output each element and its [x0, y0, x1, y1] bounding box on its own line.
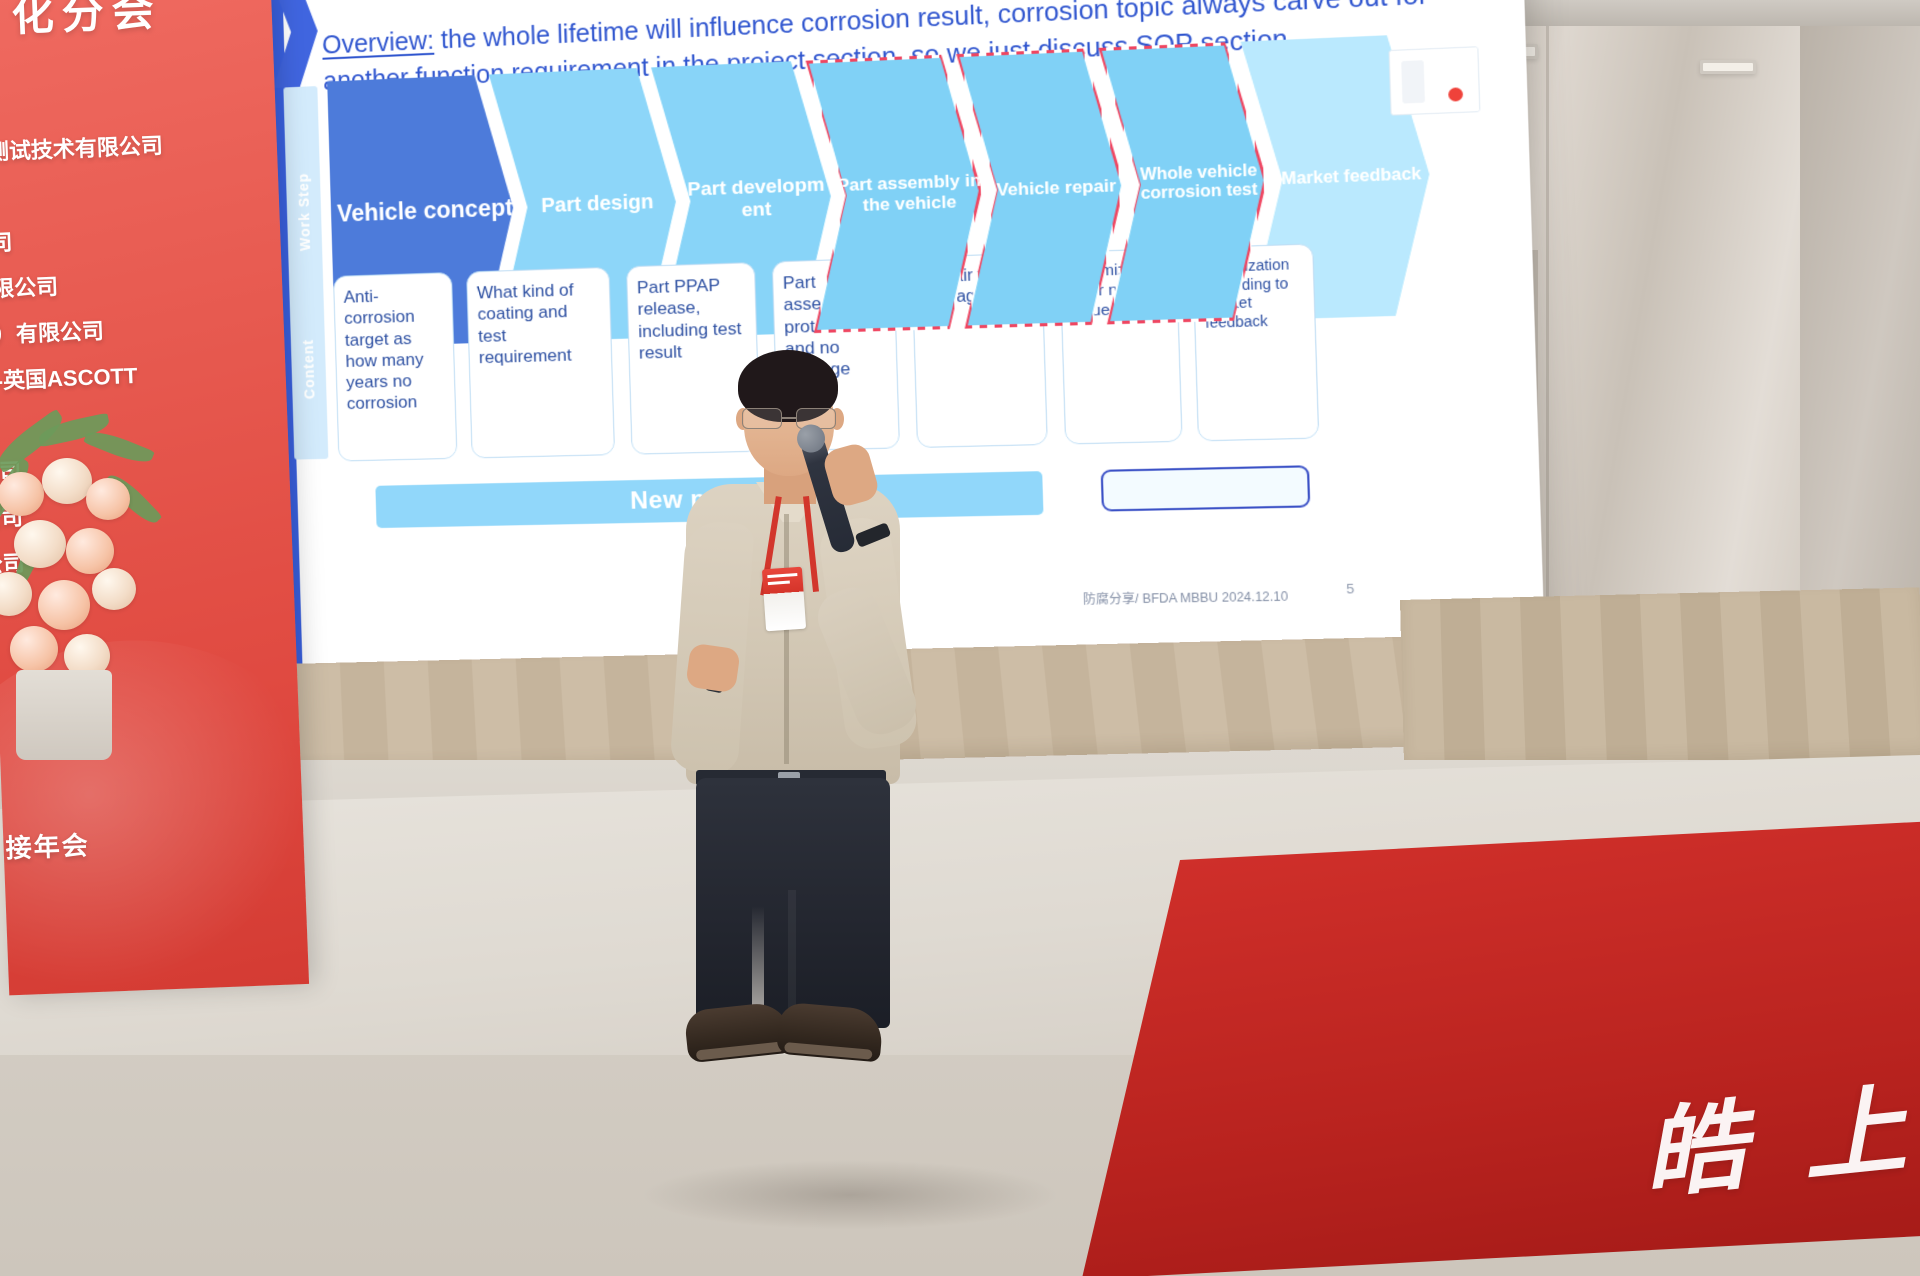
- stage-front-wood-panel-right: [1400, 587, 1920, 771]
- row-label-work-step-text: Work Step: [295, 173, 313, 252]
- flower-bloom-9: [10, 626, 58, 672]
- content-text-1: What kind of coating and test requiremen…: [477, 280, 574, 367]
- work-step-label-1: Part design: [541, 191, 654, 218]
- slide-subtitle-prefix: Overview:: [322, 27, 435, 60]
- conference-photo: 全生命周期内涉及的防腐工作 Corrosion work during the …: [0, 0, 1920, 1276]
- carpet-text: 皓 上: [1641, 1046, 1920, 1218]
- speaker-shoe-left: [684, 1001, 793, 1064]
- flower-bloom-5: [66, 528, 114, 574]
- content-box-1: What kind of coating and test requiremen…: [466, 267, 615, 459]
- speaker-shirt-placket: [784, 514, 789, 764]
- flower-vase: [16, 670, 112, 760]
- content-text-0: Anti-corrosion target as how many years …: [343, 287, 424, 414]
- speaker-glasses: [740, 408, 838, 430]
- speaker-left-hand: [685, 643, 741, 694]
- speaker-trousers: [696, 778, 890, 1028]
- content-box-0: Anti-corrosion target as how many years …: [333, 272, 458, 461]
- slide-footer: 防腐分享/ BFDA MBBU 2024.12.10: [1083, 587, 1289, 608]
- flower-bloom-7: [38, 580, 90, 630]
- phase-bar-sop: [1101, 465, 1311, 511]
- flower-bloom-8: [92, 568, 136, 610]
- slide-thumbnail-image: [1389, 46, 1481, 116]
- row-label-content: Content: [289, 278, 328, 459]
- speaker: [660, 346, 940, 1056]
- flower-bloom-2: [42, 458, 92, 504]
- red-carpet: 皓 上: [1082, 813, 1920, 1276]
- slide-page-number: 5: [1346, 581, 1355, 597]
- flower-bloom-1: [0, 472, 44, 516]
- row-label-content-text: Content: [300, 339, 318, 399]
- banner-title: 化分会: [10, 0, 309, 44]
- speaker-floor-shadow: [640, 1160, 1060, 1230]
- work-step-label-2: Part developm ent: [681, 174, 831, 223]
- ceiling-light-4: [1700, 60, 1756, 74]
- work-step-label-6: Market feedback: [1281, 165, 1421, 189]
- flower-bloom-3: [86, 478, 130, 520]
- flower-arrangement: [0, 420, 170, 750]
- flower-leaf-3: [83, 426, 155, 469]
- speaker-badge: [762, 567, 806, 632]
- flower-bloom-4: [14, 520, 66, 568]
- work-step-label-0: Vehicle concept: [337, 195, 514, 227]
